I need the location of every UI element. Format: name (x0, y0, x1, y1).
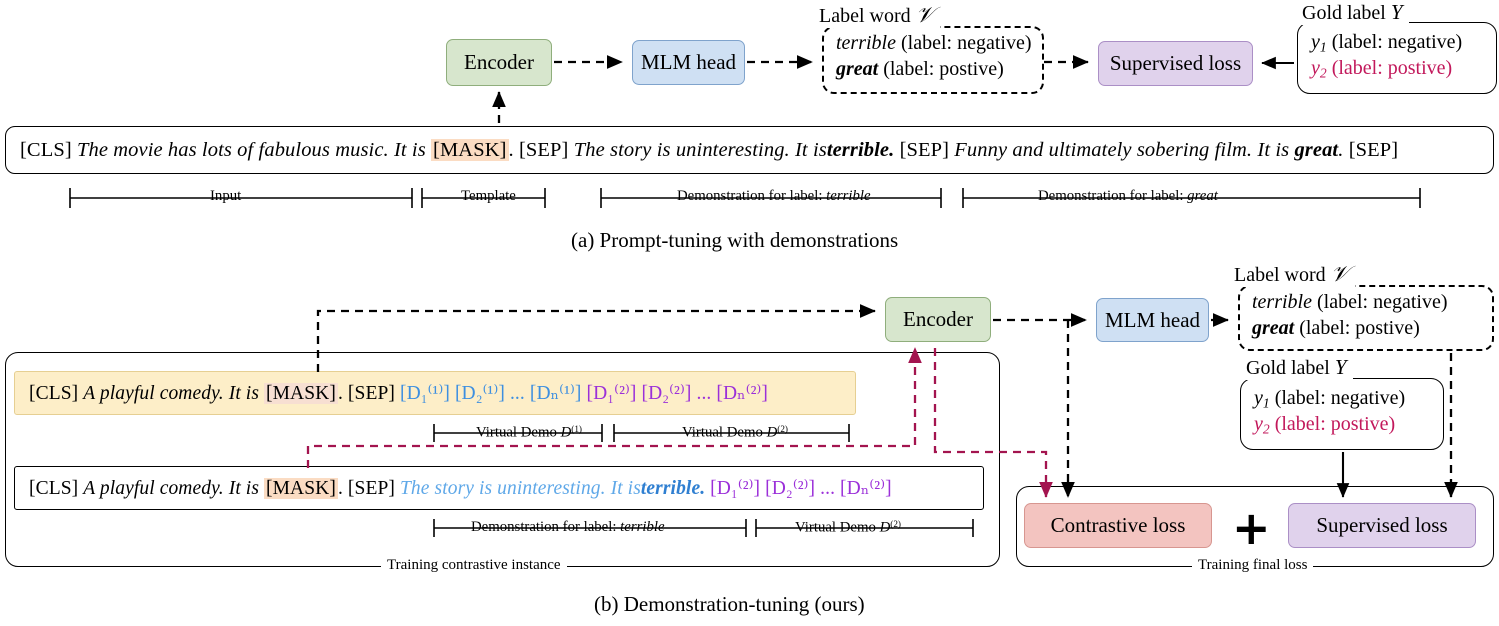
panel-b-label-word-rows: terrible (label: negative) great (label:… (1252, 290, 1448, 341)
panel-a-gold-label-title: Gold label Y (1296, 0, 1409, 25)
panel-b-caption: (b) Demonstration-tuning (ours) (594, 592, 865, 617)
panel-b-training-instance-label: Training contrastive instance (381, 557, 567, 574)
panel-b-encoder-box[interactable]: Encoder (885, 297, 991, 342)
panel-a-label-word-row: great (label: postive) (836, 57, 1032, 83)
panel-a-supervised-loss-box[interactable]: Supervised loss (1098, 41, 1253, 86)
panel-b-mlm-head-label: MLM head (1105, 308, 1200, 333)
panel-b-sentence-bottom-box: [CLS] A playful comedy. It is [MASK]. [S… (14, 466, 984, 510)
panel-b-brace-label-virtual-demo-1: Virtual Demo D(1) (471, 424, 587, 442)
panel-a-brace-label-template: Template (456, 188, 521, 205)
panel-b-sentence-top-box: [CLS] A playful comedy. It is [MASK]. [S… (14, 371, 856, 415)
panel-b-brace-label-virtual-demo-2-bottom: Virtual Demo D(2) (790, 519, 906, 537)
panel-a-gold-row: y2 (label: postive) (1311, 56, 1462, 82)
panel-a-caption: (a) Prompt-tuning with demonstrations (571, 228, 898, 253)
panel-b-contrastive-loss-label: Contrastive loss (1051, 513, 1186, 538)
panel-b-label-word-title: Label word 𝒱 (1228, 261, 1355, 287)
panel-b-gold-label-symbol: Y (1335, 355, 1347, 379)
panel-b-contrastive-loss-box[interactable]: Contrastive loss (1024, 503, 1212, 548)
panel-a-supervised-loss-label: Supervised loss (1110, 51, 1241, 76)
panel-a-label-word-symbol: 𝒱 (916, 2, 934, 27)
panel-b-gold-row: y2 (label: postive) (1254, 412, 1405, 438)
panel-a-brace-label-demo-great: Demonstration for label: great (1033, 188, 1223, 205)
panel-a-label-word-title: Label word 𝒱 (813, 2, 940, 28)
panel-a-encoder-box[interactable]: Encoder (446, 39, 552, 86)
panel-a-label-word-row: terrible (label: negative) (836, 31, 1032, 57)
panel-a-sentence-box: [CLS] The movie has lots of fabulous mus… (5, 126, 1494, 174)
panel-b-gold-label-title: Gold label Y (1240, 355, 1353, 380)
panel-a-label-word-rows: terrible (label: negative) great (label:… (836, 31, 1032, 82)
panel-b-gold-row: y1 (label: negative) (1254, 386, 1405, 412)
panel-b-bottom-mask-token: [MASK] (264, 478, 338, 499)
panel-b-bottom-virtual-demo-2-tokens: [D₁⁽²⁾] [D₂⁽²⁾] ... [Dₙ⁽²⁾] (710, 478, 892, 499)
panel-b-encoder-label: Encoder (903, 307, 973, 332)
panel-a-mlm-head-box[interactable]: MLM head (632, 40, 745, 85)
panel-b-final-loss-label: Training final loss (1192, 557, 1313, 574)
panel-b-plus-icon: + (1232, 505, 1271, 551)
panel-b-virtual-demo-2-tokens: [D₁⁽²⁾] [D₂⁽²⁾] ... [Dₙ⁽²⁾] (587, 383, 769, 404)
panel-a-gold-label-symbol: Y (1391, 0, 1403, 24)
panel-b-supervised-loss-box[interactable]: Supervised loss (1288, 503, 1476, 548)
panel-b-mlm-head-box[interactable]: MLM head (1096, 298, 1209, 342)
panel-a-gold-rows: y1 (label: negative) y2 (label: postive) (1311, 30, 1462, 82)
panel-b-supervised-loss-label: Supervised loss (1316, 513, 1447, 538)
panel-a-brace-label-input: Input (205, 188, 246, 205)
panel-b-gold-rows: y1 (label: negative) y2 (label: postive) (1254, 386, 1405, 438)
panel-b-label-word-symbol: 𝒱 (1331, 261, 1349, 286)
panel-b-brace-label-virtual-demo-2-top: Virtual Demo D(2) (677, 424, 793, 442)
panel-b-virtual-demo-1-tokens: [D₁⁽¹⁾] [D₂⁽¹⁾] ... [Dₙ⁽¹⁾] (400, 383, 587, 404)
panel-b-label-word-row: terrible (label: negative) (1252, 290, 1448, 316)
panel-a-brace-label-demo-terrible: Demonstration for label: terrible (672, 188, 876, 205)
panel-a-mlm-head-label: MLM head (641, 50, 736, 75)
panel-b-top-mask-token: [MASK] (264, 383, 338, 404)
panel-b-sentence-top: [CLS] A playful comedy. It is [MASK]. [S… (15, 381, 768, 405)
panel-a-gold-row: y1 (label: negative) (1311, 30, 1462, 56)
panel-b-brace-label-demo-terrible: Demonstration for label: terrible (466, 519, 670, 536)
panel-a-sentence: [CLS] The movie has lots of fabulous mus… (6, 139, 1398, 162)
panel-a-encoder-label: Encoder (464, 50, 534, 75)
panel-a-mask-token: [MASK] (431, 139, 509, 161)
panel-b-label-word-row: great (label: postive) (1252, 316, 1448, 342)
panel-b-sentence-bottom: [CLS] A playful comedy. It is [MASK]. [S… (15, 476, 892, 500)
